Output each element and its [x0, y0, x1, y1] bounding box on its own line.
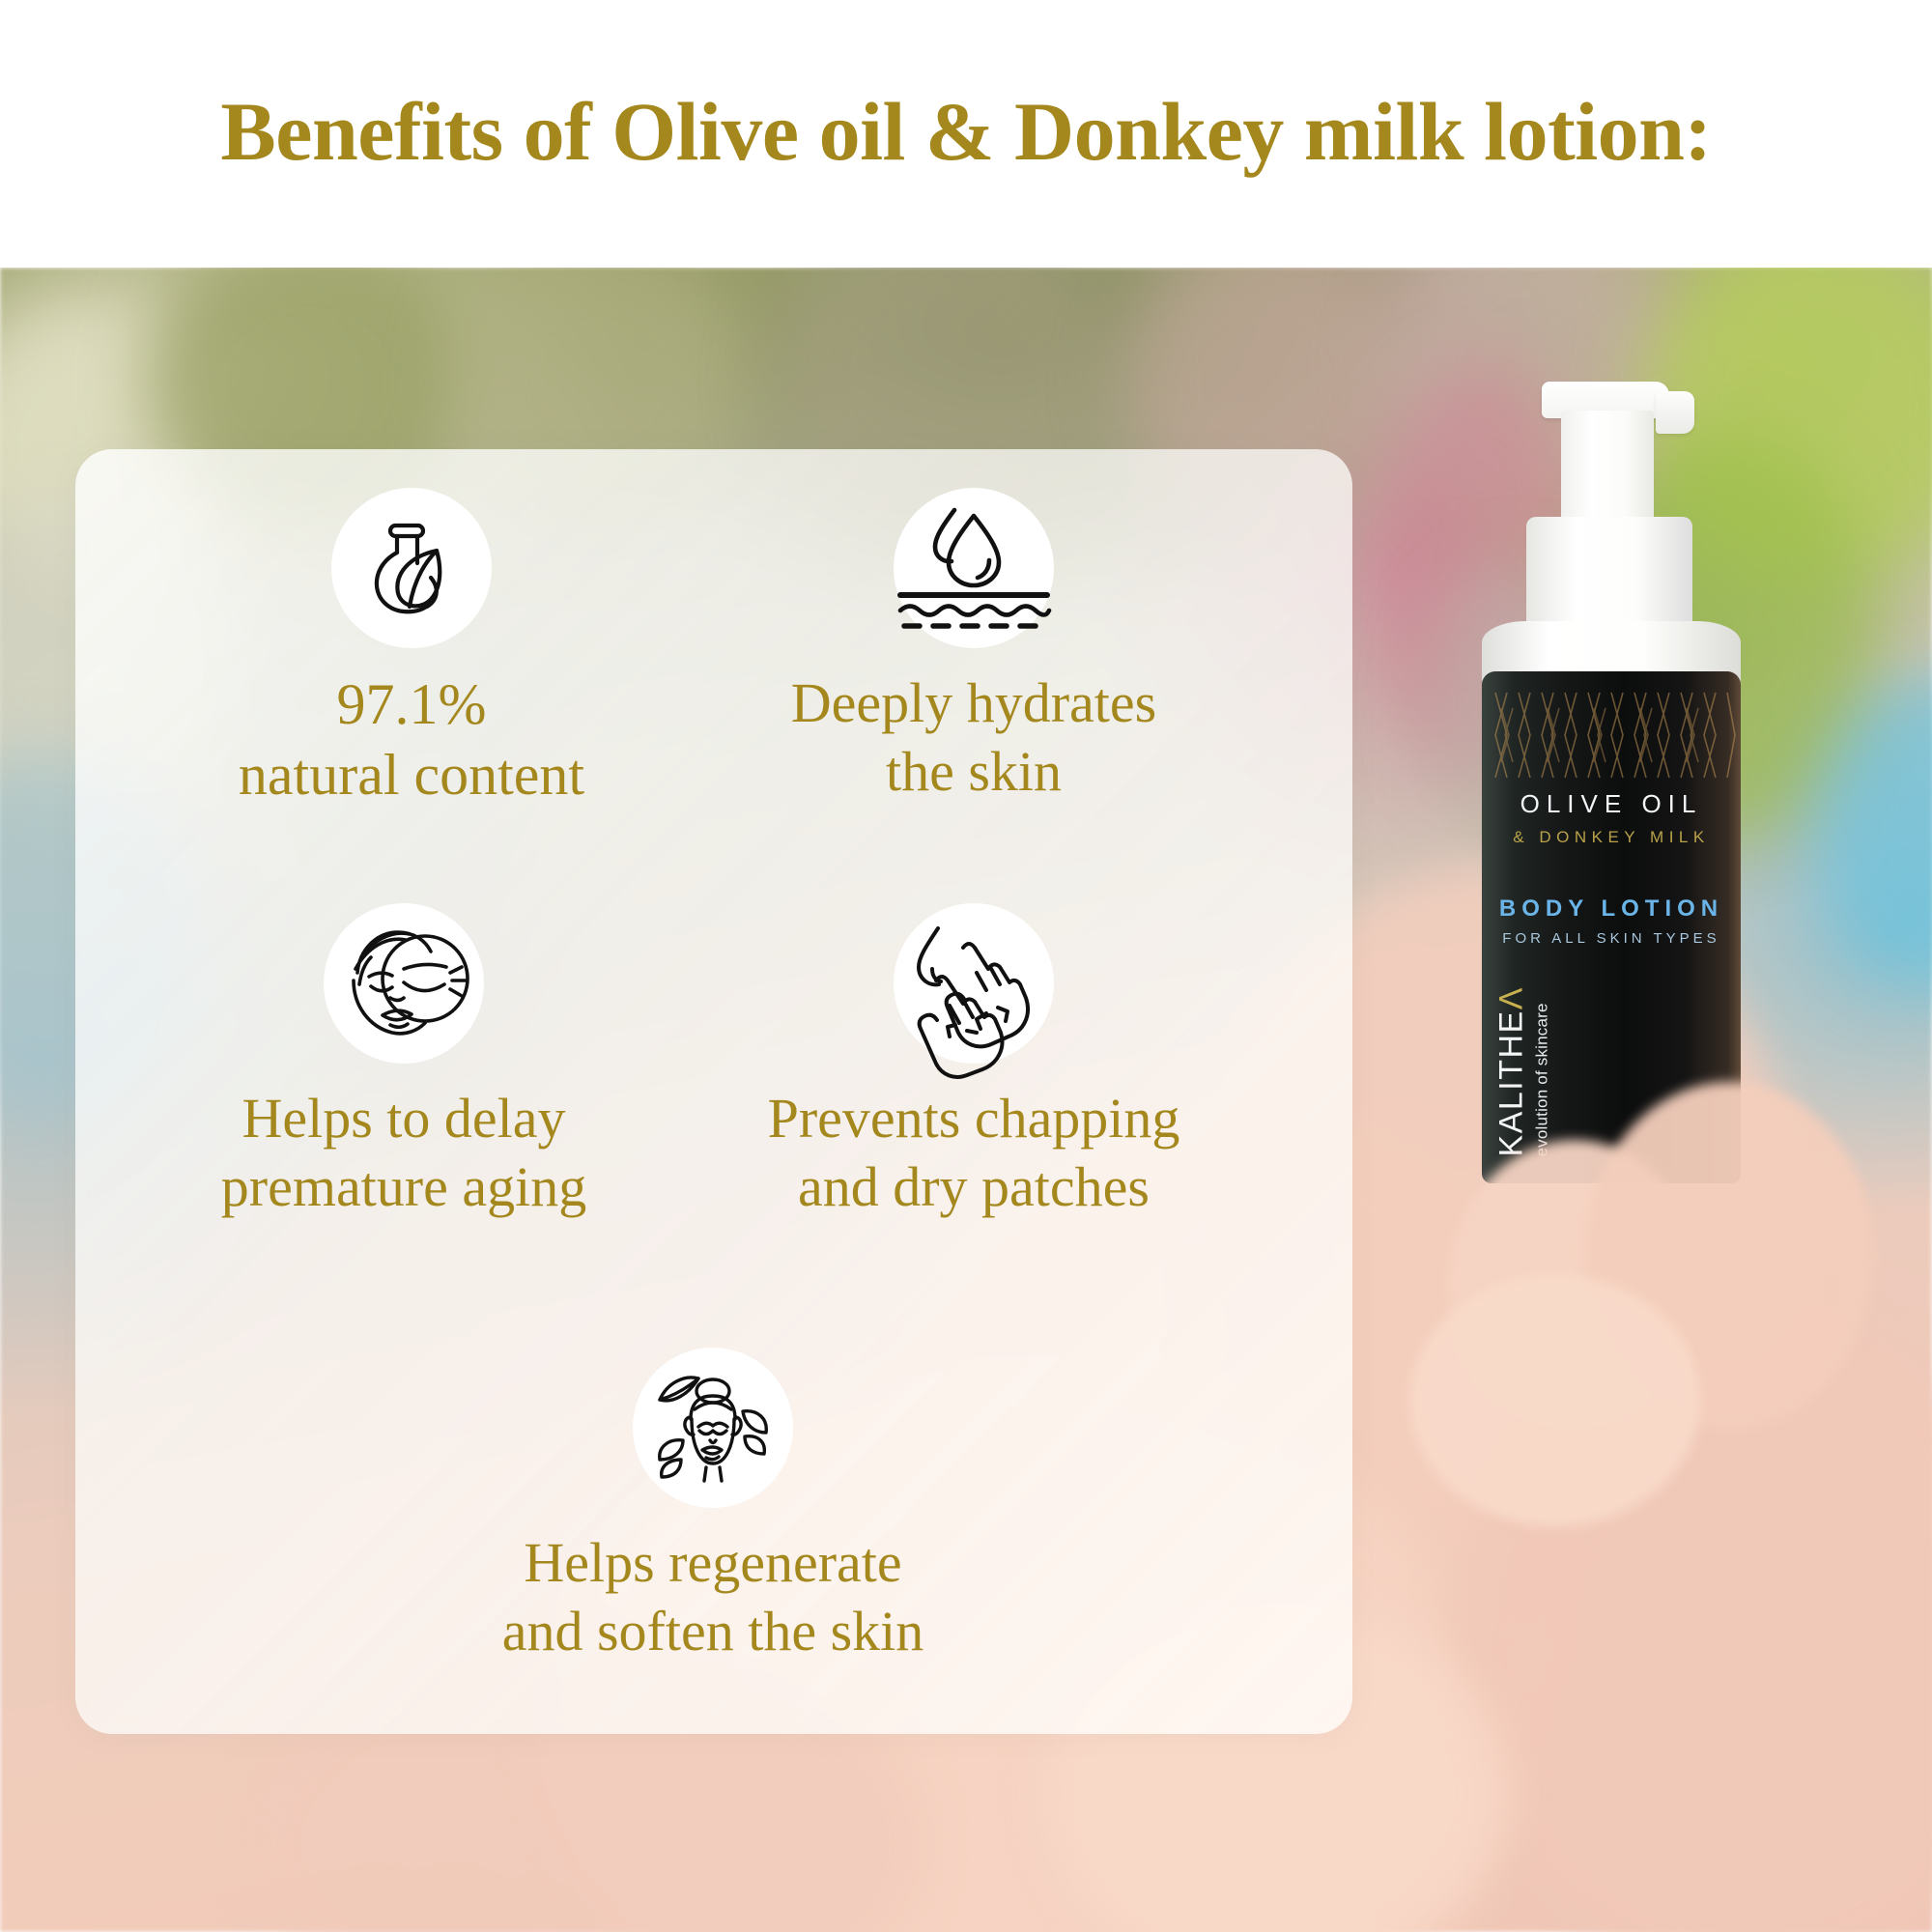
pump-collar: [1526, 517, 1692, 631]
benefit-label: Helps to delay premature aging: [221, 1085, 586, 1222]
benefit-label: Helps regenerate and soften the skin: [502, 1529, 924, 1666]
brand-accent-glyph: Λ: [1493, 986, 1530, 1009]
benefit-item-natural-content[interactable]: 97.1% natural content: [170, 488, 653, 810]
label-product-line: OLIVE OIL: [1482, 789, 1741, 819]
benefit-label: Prevents chapping and dry patches: [768, 1085, 1180, 1222]
body-lotion-bottle[interactable]: OLIVE OIL & DONKEY MILK BODY LOTION FOR …: [1478, 382, 1787, 1183]
water-droplet-skin-layers-icon: [894, 488, 1054, 648]
benefit-item-regeneration[interactable]: Helps regenerate and soften the skin: [423, 1348, 1003, 1666]
flask-leaf-icon: [331, 488, 492, 648]
face-magnifier-wrinkles-icon: [324, 903, 484, 1064]
label-skin-types: FOR ALL SKIN TYPES: [1482, 930, 1741, 947]
benefit-label: 97.1% natural content: [239, 669, 584, 810]
header-band: Benefits of Olive oil & Donkey milk loti…: [0, 0, 1932, 268]
pump-stem: [1561, 411, 1654, 525]
promo-image-root: Benefits of Olive oil & Donkey milk loti…: [0, 0, 1932, 1932]
benefit-item-deep-hydration[interactable]: Deeply hydrates the skin: [703, 488, 1244, 807]
brand-name-text: KALITHE: [1493, 1009, 1530, 1156]
page-title: Benefits of Olive oil & Donkey milk loti…: [220, 90, 1711, 179]
hand-shape: [1410, 1275, 1700, 1526]
serene-face-leaves-icon: [633, 1348, 793, 1508]
brand-block: KALITHEΛ evolution of skincare: [1495, 954, 1552, 1157]
label-ingredients: & DONKEY MILK: [1482, 828, 1741, 847]
benefit-label: Deeply hydrates the skin: [791, 669, 1156, 807]
hands-droplet-cracked-skin-icon: [894, 903, 1054, 1064]
brand-tagline: evolution of skincare: [1533, 954, 1552, 1157]
benefits-grid: 97.1% natural content Deeply hydrates th…: [75, 449, 1352, 1734]
benefit-item-anti-aging[interactable]: Helps to delay premature aging: [143, 903, 665, 1222]
brand-name: KALITHEΛ: [1495, 954, 1528, 1157]
benefit-item-prevents-chapping[interactable]: Prevents chapping and dry patches: [694, 903, 1254, 1222]
label-product-type: BODY LOTION: [1482, 895, 1741, 923]
